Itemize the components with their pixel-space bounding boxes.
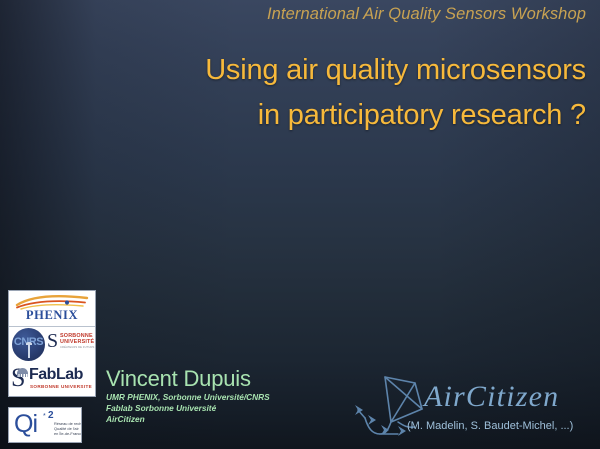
fablab-subtitle: SORBONNE UNIVERSITE [30, 384, 92, 389]
qi2-line3: en Île-de-France [54, 431, 82, 436]
aircitizen-logo: AirCitizen (M. Madelin, S. Baudet-Michel… [352, 372, 600, 449]
qi2-wordmark: Qi [14, 411, 37, 438]
sorbonne-line2: UNIVERSITÉ [60, 339, 96, 345]
author-affiliation-1: UMR PHENIX, Sorbonne Université/CNRS [106, 392, 270, 403]
aircitizen-wordmark: AirCitizen [424, 380, 559, 414]
sorbonne-subline: CRÉATEURS DE FUTURS DEPUIS 1257 [60, 346, 96, 349]
cnrs-sorbonne-logo: CNRS S SORBONNE UNIVERSITÉ CRÉATEURS DE … [9, 327, 95, 363]
aircitizen-credits: (M. Madelin, S. Baudet-Michel, ...) [407, 420, 573, 432]
cnrs-badge-icon: CNRS [12, 328, 45, 361]
qi2-tagline: Réseau de recherche Qualité de l'air en … [54, 421, 82, 436]
institution-logo-card: PHENIX CNRS S SORBONNE UNIVERSITÉ CRÉATE… [8, 290, 96, 397]
phenix-logo: PHENIX [9, 291, 95, 327]
fablab-logo: S FabLab SORBONNE UNIVERSITE [9, 363, 95, 396]
author-affiliation-3: AirCitizen [106, 414, 270, 425]
title-line-1: Using air quality microsensors [0, 48, 586, 93]
cnrs-tower-icon [28, 345, 30, 358]
qi2-exponent: 2 [48, 410, 54, 421]
fablab-dome-icon [17, 368, 28, 374]
phenix-wordmark: PHENIX [9, 308, 95, 323]
title-line-2: in participatory research ? [0, 93, 586, 138]
presentation-slide: International Air Quality Sensors Worksh… [0, 0, 600, 449]
qi2-logo-card: Qi * 2 Réseau de recherche Qualité de l'… [8, 407, 82, 443]
workshop-name: International Air Quality Sensors Worksh… [267, 5, 586, 24]
author-name: Vincent Dupuis [106, 366, 270, 392]
fablab-wordmark: FabLab [29, 366, 83, 383]
qi2-star-icon: * [43, 413, 46, 420]
sorbonne-wordmark: SORBONNE UNIVERSITÉ CRÉATEURS DE FUTURS … [60, 333, 96, 349]
author-block: Vincent Dupuis UMR PHENIX, Sorbonne Univ… [106, 366, 270, 425]
sorbonne-initial: S [47, 331, 58, 351]
slide-title: Using air quality microsensors in partic… [0, 48, 586, 138]
author-affiliation-2: Fablab Sorbonne Université [106, 403, 270, 414]
